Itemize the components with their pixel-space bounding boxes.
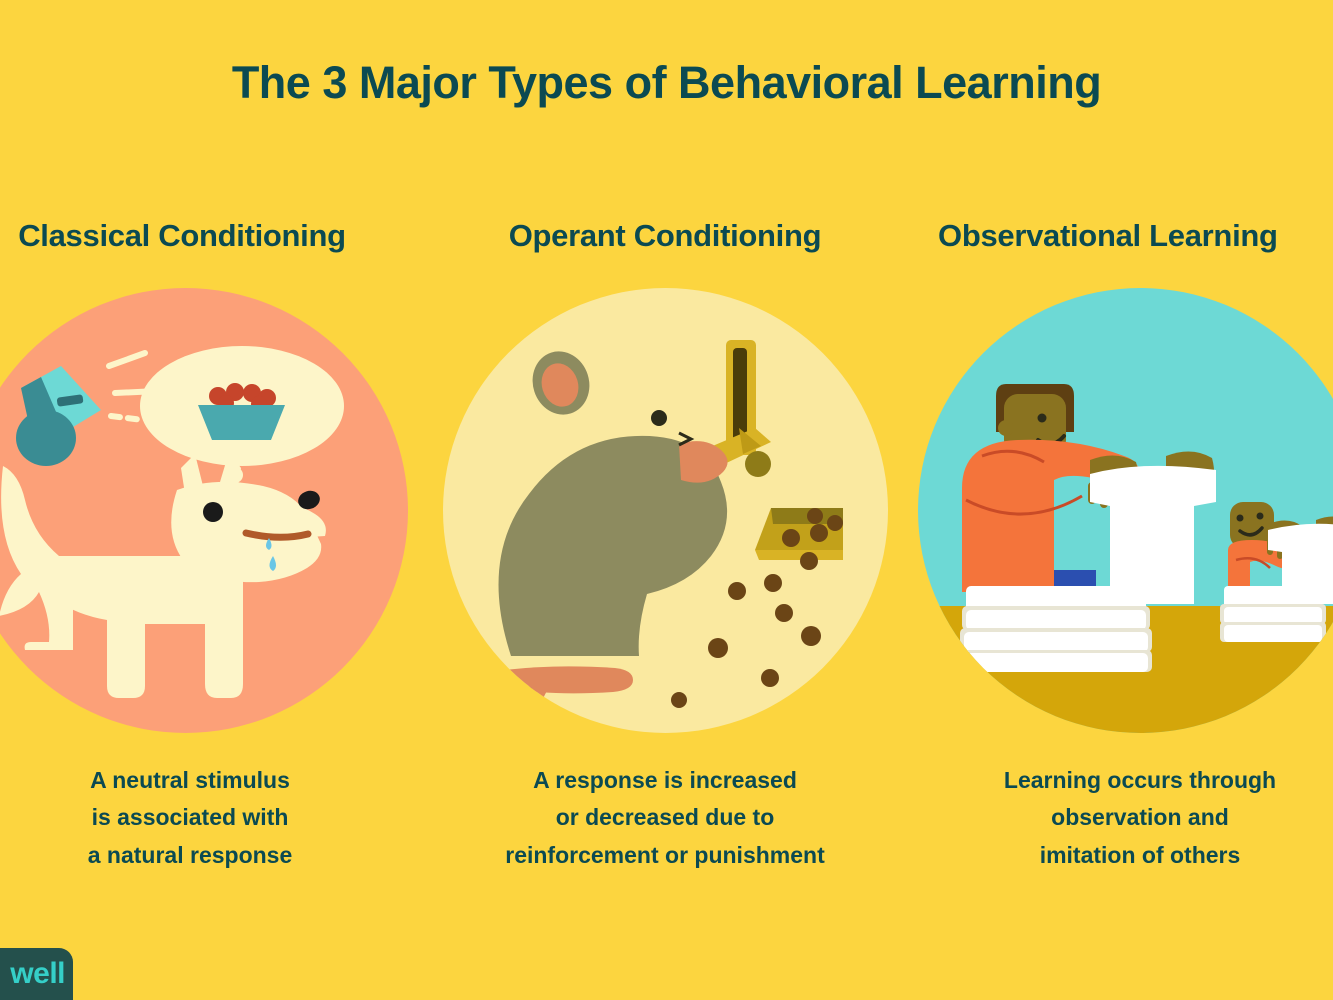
laundry-stack-small: [1220, 586, 1326, 642]
thought-bubble-food-bowl: [140, 346, 344, 483]
illustration-classical-conditioning: [0, 288, 408, 733]
caption-operant-conditioning: A response is increased or decreased due…: [455, 762, 875, 874]
illustration-operant-conditioning: [443, 288, 888, 733]
food-dispenser-icon: [755, 508, 843, 560]
illustration-observational-learning: [918, 288, 1333, 733]
child-eye-right: [1257, 513, 1264, 520]
laundry-folding-illustration: [918, 288, 1333, 733]
caption-classical-conditioning: A neutral stimulus is associated with a …: [0, 762, 390, 874]
rat-eye: [651, 410, 667, 426]
logo-text: well: [10, 959, 65, 989]
caption-observational-learning: Learning occurs through observation and …: [940, 762, 1333, 874]
adult-eye: [1038, 414, 1047, 423]
column-heading-classical-conditioning: Classical Conditioning: [0, 218, 372, 254]
infographic-canvas: The 3 Major Types of Behavioral Learning…: [0, 0, 1333, 1000]
laundry-stack-large: [960, 586, 1152, 672]
verywell-logo-badge[interactable]: well: [0, 948, 73, 1000]
dog-eye: [203, 502, 223, 522]
child-eye-left: [1237, 515, 1244, 522]
whistle-icon: [16, 366, 101, 466]
rat-lever-illustration: [443, 288, 888, 733]
dog-illustration: [0, 452, 326, 698]
page-title: The 3 Major Types of Behavioral Learning: [0, 57, 1333, 109]
column-heading-observational-learning: Observational Learning: [938, 218, 1333, 254]
rat-illustration: [479, 344, 728, 733]
column-heading-operant-conditioning: Operant Conditioning: [470, 218, 860, 254]
food-pellets: [671, 552, 821, 708]
dog-whistle-illustration: [0, 288, 408, 733]
white-shirt-large: [1090, 466, 1216, 604]
